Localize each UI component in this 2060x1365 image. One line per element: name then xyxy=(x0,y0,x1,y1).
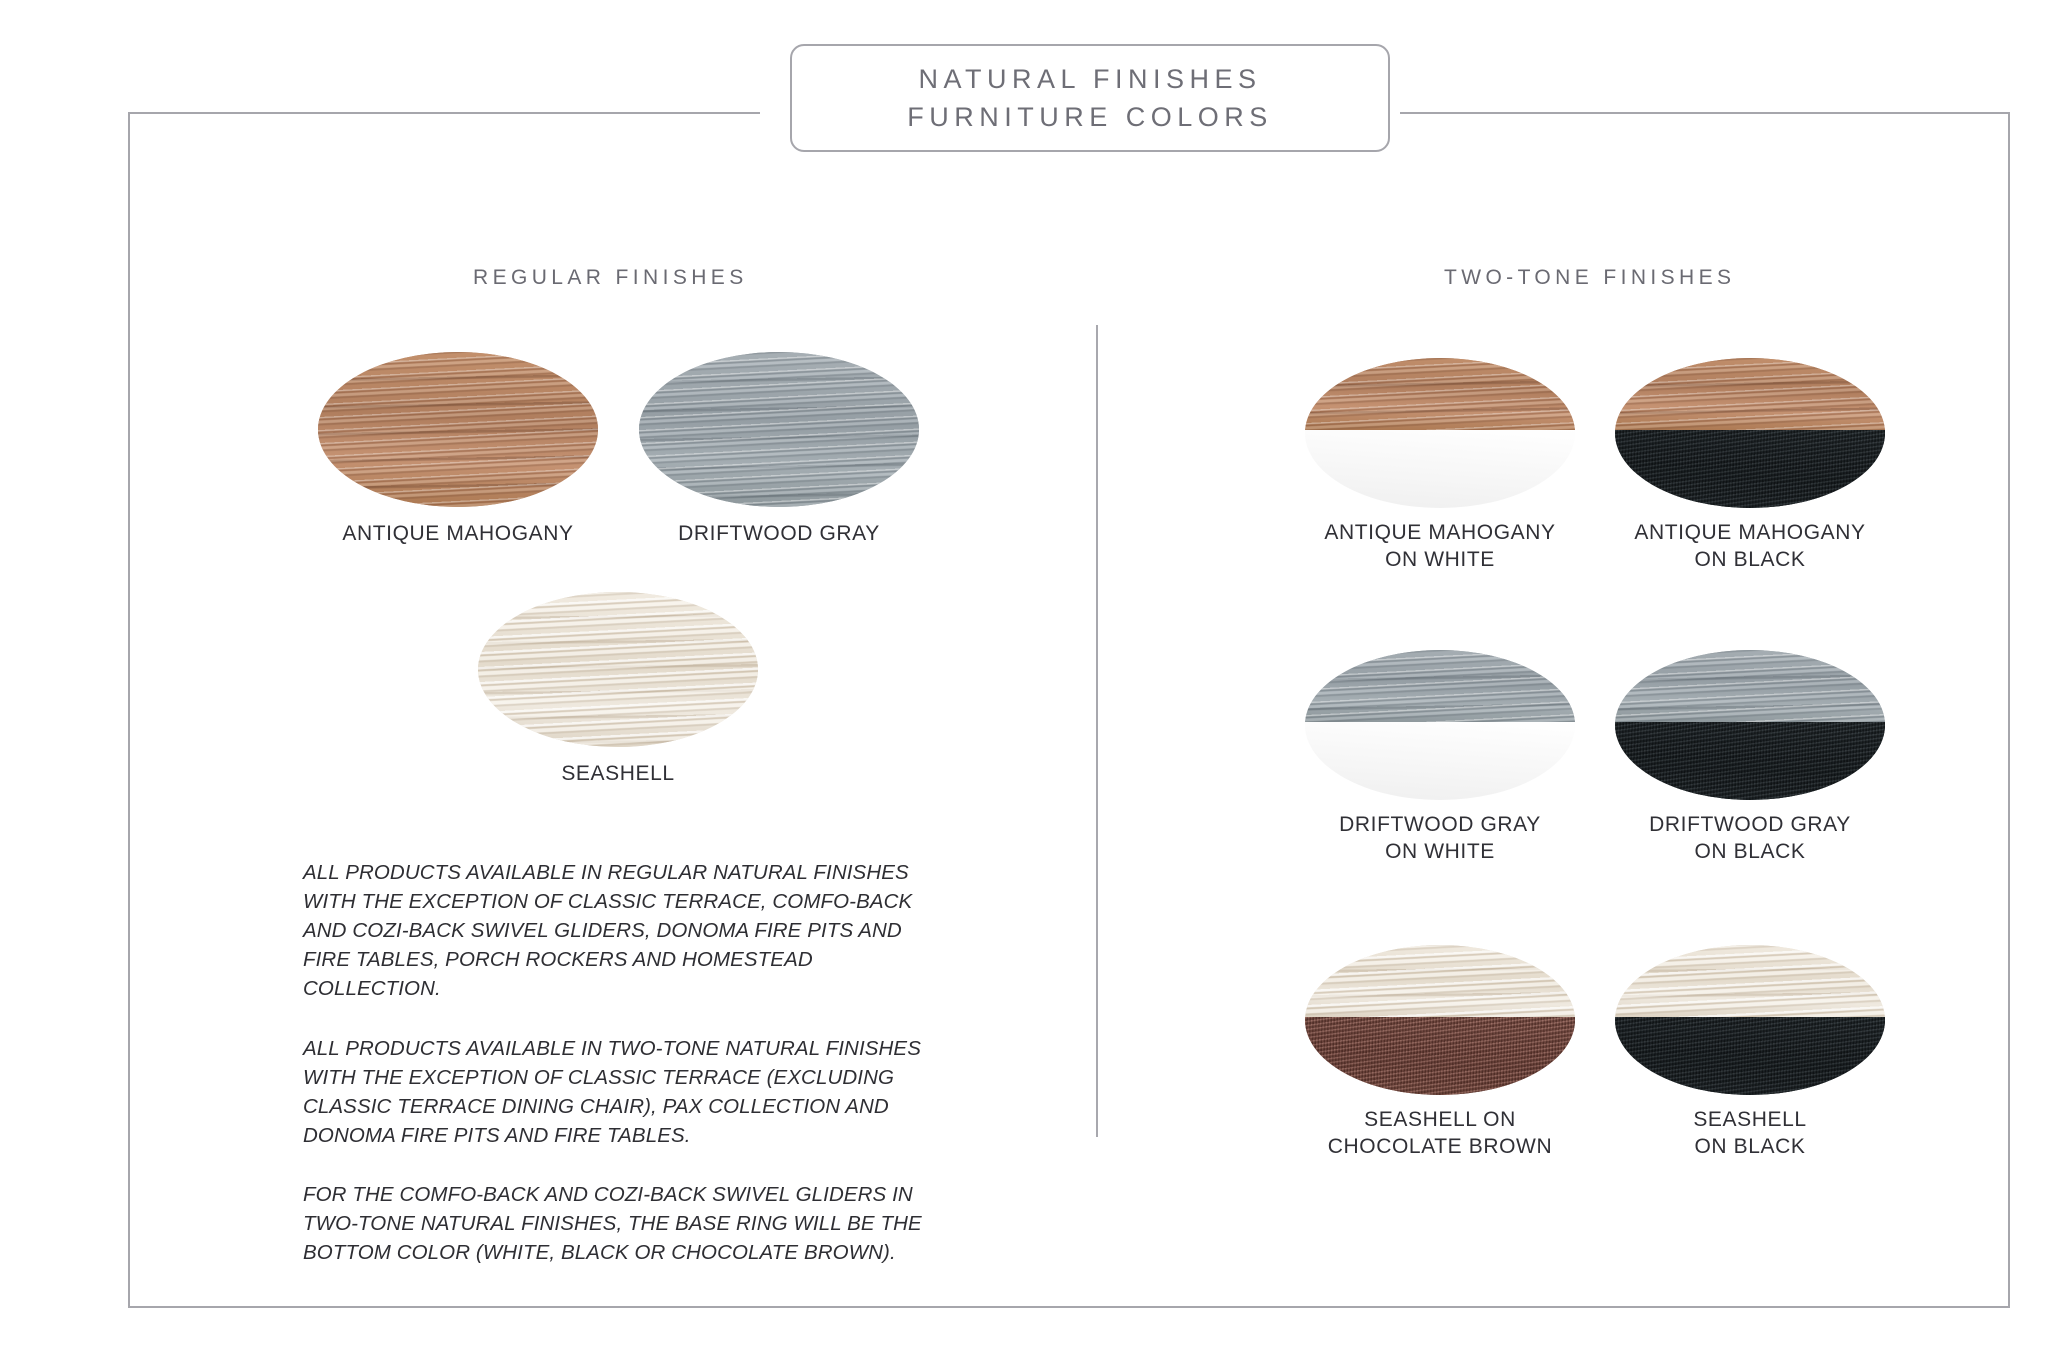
swatch-antique-mahogany-on-black[interactable]: ANTIQUE MAHOGANY ON BLACK xyxy=(1615,358,1885,574)
swatch-driftwood-gray-on-black[interactable]: DRIFTWOOD GRAY ON BLACK xyxy=(1615,650,1885,866)
material-bottom-black xyxy=(1615,722,1885,800)
material-top-seashell xyxy=(1305,945,1575,1017)
swatch-oval xyxy=(318,352,598,507)
material-top-antique-mahogany xyxy=(1305,358,1575,430)
swatch-oval xyxy=(1615,945,1885,1095)
notes-block: ALL PRODUCTS AVAILABLE IN REGULAR NATURA… xyxy=(303,858,933,1267)
note-paragraph-3: FOR THE COMFO-BACK AND COZI-BACK SWIVEL … xyxy=(303,1180,933,1267)
swatch-label: ANTIQUE MAHOGANY xyxy=(318,521,598,548)
swatch-label: SEASHELL xyxy=(478,761,758,788)
material-top-seashell xyxy=(1615,945,1885,1017)
swatch-label: ANTIQUE MAHOGANY ON BLACK xyxy=(1615,520,1885,574)
section-heading-regular-finishes: REGULAR FINISHES xyxy=(473,266,748,290)
swatch-driftwood-gray-on-white[interactable]: DRIFTWOOD GRAY ON WHITE xyxy=(1305,650,1575,866)
material-top-driftwood-gray xyxy=(1305,650,1575,722)
swatch-label: DRIFTWOOD GRAY ON BLACK xyxy=(1615,812,1885,866)
swatch-seashell-on-chocolate-brown[interactable]: SEASHELL ON CHOCOLATE BROWN xyxy=(1305,945,1575,1161)
note-paragraph-1: ALL PRODUCTS AVAILABLE IN REGULAR NATURA… xyxy=(303,858,933,1004)
swatch-antique-mahogany-on-white[interactable]: ANTIQUE MAHOGANY ON WHITE xyxy=(1305,358,1575,574)
material-antique-mahogany xyxy=(318,352,598,507)
swatch-driftwood-gray[interactable]: DRIFTWOOD GRAY xyxy=(639,352,919,548)
swatch-oval xyxy=(639,352,919,507)
swatch-oval xyxy=(1615,358,1885,508)
title-plate: NATURAL FINISHES FURNITURE COLORS xyxy=(790,44,1390,152)
column-divider xyxy=(1096,325,1098,1137)
swatch-seashell-on-black[interactable]: SEASHELL ON BLACK xyxy=(1615,945,1885,1161)
swatch-seashell[interactable]: SEASHELL xyxy=(478,592,758,788)
swatch-label: ANTIQUE MAHOGANY ON WHITE xyxy=(1305,520,1575,574)
page-title-line-1: NATURAL FINISHES xyxy=(918,60,1261,98)
material-driftwood-gray xyxy=(639,352,919,507)
swatch-oval xyxy=(1615,650,1885,800)
swatch-label: SEASHELL ON BLACK xyxy=(1615,1107,1885,1161)
swatch-oval xyxy=(1305,358,1575,508)
swatch-oval xyxy=(478,592,758,747)
swatch-label: DRIFTWOOD GRAY xyxy=(639,521,919,548)
section-heading-two-tone-finishes: TWO-TONE FINISHES xyxy=(1444,266,1735,290)
material-bottom-white xyxy=(1305,430,1575,508)
swatch-label: DRIFTWOOD GRAY ON WHITE xyxy=(1305,812,1575,866)
page-title-line-2: FURNITURE COLORS xyxy=(907,98,1273,136)
material-bottom-black xyxy=(1615,430,1885,508)
swatch-label: SEASHELL ON CHOCOLATE BROWN xyxy=(1305,1107,1575,1161)
material-top-antique-mahogany xyxy=(1615,358,1885,430)
material-bottom-chocolate-brown xyxy=(1305,1017,1575,1095)
material-bottom-black xyxy=(1615,1017,1885,1095)
material-top-driftwood-gray xyxy=(1615,650,1885,722)
material-seashell xyxy=(478,592,758,747)
note-paragraph-2: ALL PRODUCTS AVAILABLE IN TWO-TONE NATUR… xyxy=(303,1034,933,1150)
swatch-oval xyxy=(1305,945,1575,1095)
swatch-oval xyxy=(1305,650,1575,800)
swatch-antique-mahogany[interactable]: ANTIQUE MAHOGANY xyxy=(318,352,598,548)
material-bottom-white xyxy=(1305,722,1575,800)
